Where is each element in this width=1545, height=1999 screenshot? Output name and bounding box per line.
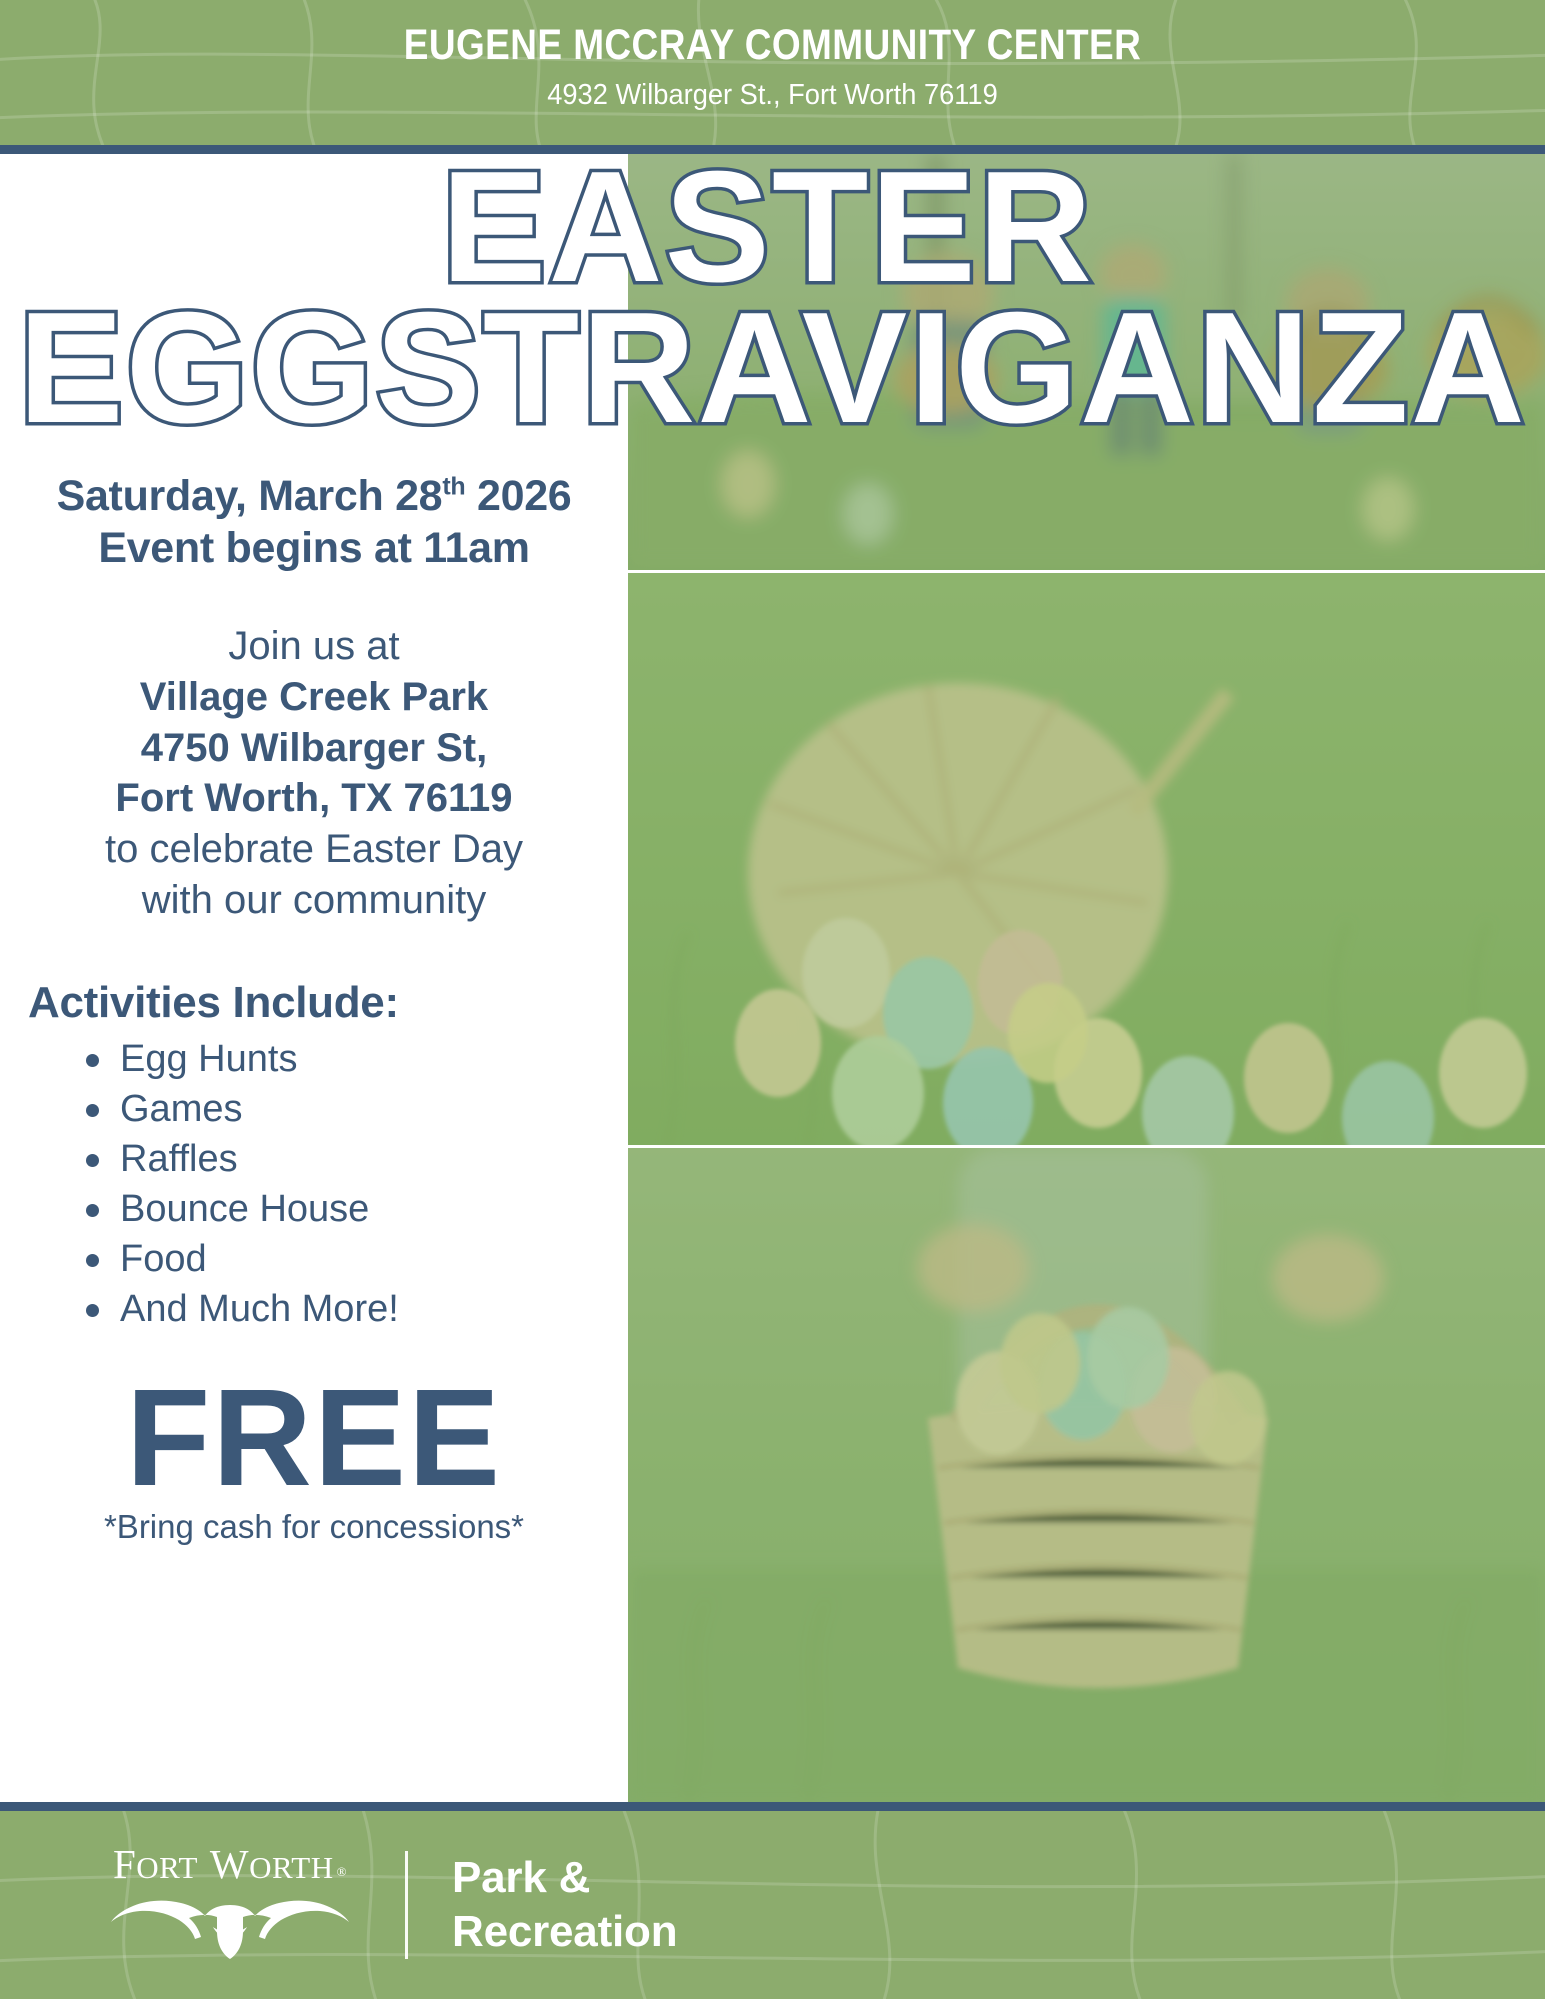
photo-basket-with-eggs [628, 573, 1545, 1145]
department-name: Park & Recreation [452, 1851, 677, 1958]
activities-list: Egg Hunts Games Raffles Bounce House Foo… [28, 1034, 614, 1335]
event-date: Saturday, March 28th 2026 [14, 470, 614, 522]
price-block: FREE *Bring cash for concessions* [14, 1375, 614, 1546]
flyer-footer: FORTWORTH® Park & Recreation [0, 1811, 1545, 1999]
event-date-year: 2026 [465, 472, 571, 520]
fort-worth-wordmark: FORTWORTH® [113, 1844, 347, 1885]
photo-green-tint-3 [628, 1148, 1545, 1802]
venue-name: Village Creek Park [14, 672, 614, 723]
photo-green-tint-2 [628, 573, 1545, 1145]
event-date-text: Saturday, March 28 [57, 472, 443, 520]
list-item: Bounce House [84, 1184, 614, 1234]
event-start-time: Event begins at 11am [14, 522, 614, 574]
activities-block: Activities Include: Egg Hunts Games Raff… [14, 978, 614, 1335]
list-item: Raffles [84, 1134, 614, 1184]
photo-green-tint-1 [628, 154, 1545, 570]
fw-w: W [210, 1844, 249, 1885]
divider-top [0, 145, 1545, 154]
details-column: Saturday, March 28th 2026 Event begins a… [0, 440, 628, 1546]
flyer-page: EUGENE MCCRAY COMMUNITY CENTER 4932 Wilb… [0, 0, 1545, 1999]
community-center-name: EUGENE MCCRAY COMMUNITY CENTER [108, 24, 1437, 67]
photo-child-holding-basket [628, 1148, 1545, 1802]
community-center-address: 4932 Wilbarger St., Fort Worth 76119 [46, 79, 1498, 112]
venue-block: Join us at Village Creek Park 4750 Wilba… [14, 621, 614, 926]
venue-city-state-zip: Fort Worth, TX 76119 [14, 773, 614, 824]
fw-f: F [113, 1844, 136, 1885]
fort-worth-logo: FORTWORTH® [95, 1844, 365, 1966]
price-concessions-note: *Bring cash for concessions* [14, 1508, 614, 1546]
department-line-1: Park & [452, 1851, 677, 1905]
fw-ort: ORT [136, 1852, 198, 1883]
footer-vertical-divider [405, 1851, 408, 1959]
divider-bottom [0, 1802, 1545, 1811]
venue-tagline-1: to celebrate Easter Day [14, 824, 614, 875]
list-item: And Much More! [84, 1284, 614, 1334]
list-item: Egg Hunts [84, 1034, 614, 1084]
list-item: Food [84, 1234, 614, 1284]
venue-street: 4750 Wilbarger St, [14, 723, 614, 774]
flyer-header: EUGENE MCCRAY COMMUNITY CENTER 4932 Wilb… [0, 0, 1545, 145]
price-free-label: FREE [14, 1375, 614, 1502]
fw-orth: ORTH [249, 1852, 334, 1883]
longhorn-icon [105, 1887, 355, 1966]
department-line-2: Recreation [452, 1905, 677, 1959]
activities-heading: Activities Include: [28, 978, 614, 1028]
registered-mark: ® [337, 1865, 347, 1878]
event-date-ordinal: th [442, 473, 465, 501]
photo-column [628, 154, 1545, 1802]
event-date-block: Saturday, March 28th 2026 Event begins a… [14, 470, 614, 575]
venue-intro: Join us at [14, 621, 614, 672]
photo-children-egg-hunt [628, 154, 1545, 570]
venue-tagline-2: with our community [14, 875, 614, 926]
list-item: Games [84, 1084, 614, 1134]
